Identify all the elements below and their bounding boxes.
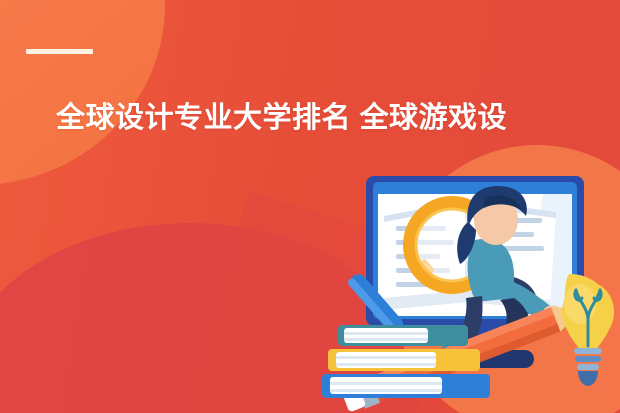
accent-dash <box>26 49 93 54</box>
article-banner: 全球设计专业大学排名 全球游戏设 <box>0 0 620 413</box>
page-title: 全球设计专业大学排名 全球游戏设 <box>56 103 596 135</box>
book-stack-icon <box>322 325 490 398</box>
study-search-illustration <box>318 168 620 413</box>
lightbulb-icon <box>562 274 614 386</box>
